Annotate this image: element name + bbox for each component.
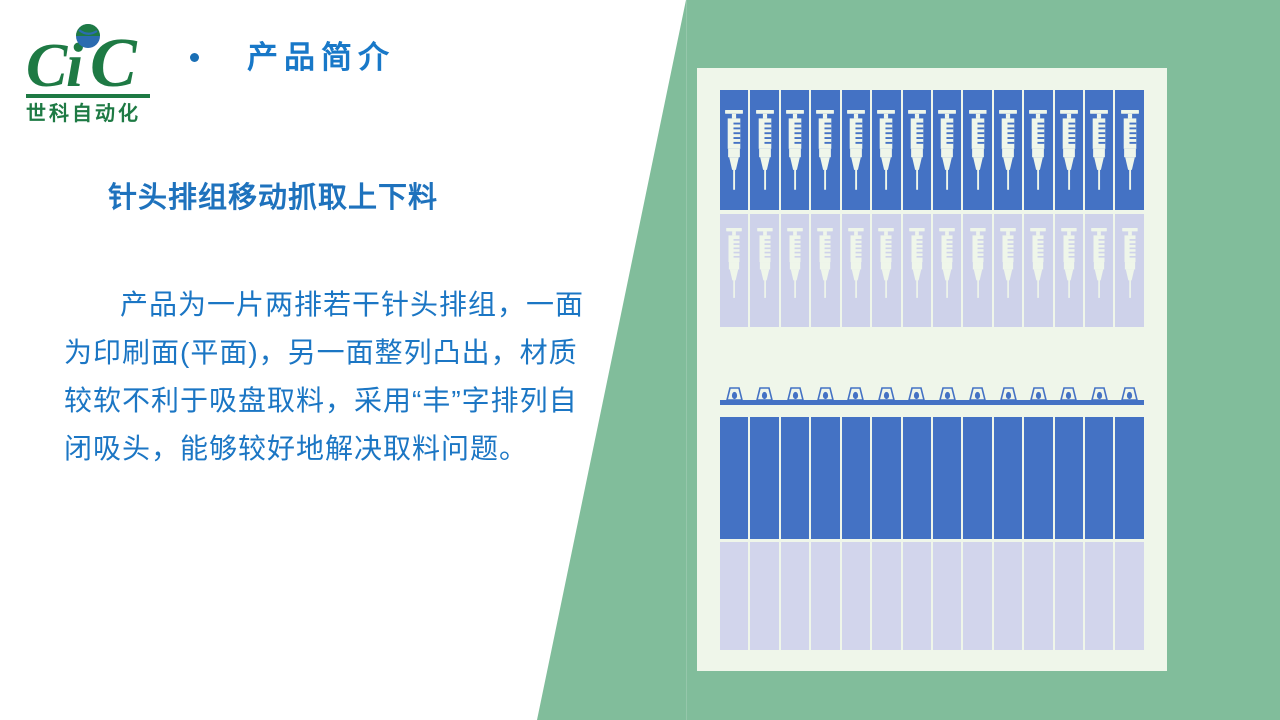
- strip-cell: [811, 90, 839, 210]
- strip-cell: [1024, 417, 1052, 539]
- strip-cell: [994, 90, 1022, 210]
- syringe-icon: [846, 110, 865, 190]
- syringe-icon: [1059, 110, 1078, 190]
- suction-cup-icon: [1000, 387, 1017, 401]
- bullet-dot-icon: [190, 53, 199, 62]
- suction-cup-cell: [1055, 383, 1083, 401]
- strip-cell: [933, 214, 961, 327]
- strip-cell: [781, 417, 809, 539]
- syringe-icon: [787, 228, 804, 298]
- green-seam-line: [686, 0, 687, 720]
- suction-cup-cell: [842, 383, 870, 401]
- strip-cell: [842, 214, 870, 327]
- syringe-icon: [968, 110, 987, 190]
- syringe-icon: [725, 110, 744, 190]
- suction-cup-icon: [1091, 387, 1108, 401]
- strip-cell: [903, 90, 931, 210]
- strip-cell: [1055, 90, 1083, 210]
- suction-cup-cell: [872, 383, 900, 401]
- strip-cell: [1115, 214, 1143, 327]
- strip-cell: [750, 542, 778, 650]
- strip-cell: [1024, 90, 1052, 210]
- suction-cup-icon: [908, 387, 925, 401]
- strip-cell: [963, 417, 991, 539]
- strip-cell: [1024, 214, 1052, 327]
- strip-cell: [933, 542, 961, 650]
- syringe-icon: [755, 110, 774, 190]
- strip-cell: [842, 90, 870, 210]
- syringe-icon: [877, 110, 896, 190]
- body-paragraph: 产品为一片两排若干针头排组，一面为印刷面(平面)，另一面整列凸出，材质较软不利于…: [64, 281, 584, 473]
- syringe-icon: [939, 228, 956, 298]
- strip-cell: [750, 214, 778, 327]
- syringe-icon: [1029, 110, 1048, 190]
- syringe-icon: [726, 228, 743, 298]
- strip-cell: [872, 214, 900, 327]
- strip-cell: [842, 417, 870, 539]
- syringe-icon: [756, 228, 773, 298]
- company-logo: C i C 世科自动化: [22, 16, 174, 124]
- suction-cup-cell: [781, 383, 809, 401]
- syringe-icon: [999, 110, 1018, 190]
- strip-cell: [1085, 90, 1113, 210]
- strip-cell: [720, 542, 748, 650]
- product-illustration: [720, 90, 1144, 650]
- suction-cup-rail: [720, 379, 1144, 405]
- syringe-icon: [907, 110, 926, 190]
- strip-cell: [811, 542, 839, 650]
- suction-cup-icon: [939, 387, 956, 401]
- suction-cup-icon: [878, 387, 895, 401]
- suction-cup-icon: [787, 387, 804, 401]
- strip-cell: [872, 90, 900, 210]
- logo-subtitle: 世科自动化: [26, 101, 141, 124]
- strip-cell: [1085, 542, 1113, 650]
- suction-cup-icon: [847, 387, 864, 401]
- strip-cell: [781, 542, 809, 650]
- suction-cup-icon: [1060, 387, 1077, 401]
- suction-cup-cell: [963, 383, 991, 401]
- suction-cup-icon: [726, 387, 743, 401]
- suction-cup-row: [720, 383, 1144, 401]
- suction-cup-cell: [1085, 383, 1113, 401]
- svg-text:C: C: [26, 32, 68, 100]
- syringe-icon: [1120, 110, 1139, 190]
- suction-cup-cell: [1024, 383, 1052, 401]
- strip-cell: [781, 214, 809, 327]
- syringe-icon: [817, 228, 834, 298]
- syringe-icon: [938, 110, 957, 190]
- strip-cell: [781, 90, 809, 210]
- globe-icon: [76, 24, 100, 48]
- strip-cell: [720, 90, 748, 210]
- strip-cell: [963, 542, 991, 650]
- strip-cell: [720, 417, 748, 539]
- strip-cell: [811, 417, 839, 539]
- suction-cup-icon: [817, 387, 834, 401]
- strip-cell: [750, 417, 778, 539]
- syringe-icon: [1030, 228, 1047, 298]
- syringe-icon: [969, 228, 986, 298]
- syringe-icon: [1091, 228, 1108, 298]
- strip-cell: [1055, 417, 1083, 539]
- syringe-icon: [878, 228, 895, 298]
- strip-cell: [811, 214, 839, 327]
- suction-cup-icon: [1030, 387, 1047, 401]
- strip-cell: [750, 90, 778, 210]
- strip-cell: [1115, 417, 1143, 539]
- section-heading: 针头排组移动抓取上下料: [108, 174, 438, 216]
- suction-cup-cell: [933, 383, 961, 401]
- strip-cell: [933, 90, 961, 210]
- strip-cell: [872, 417, 900, 539]
- strip-cell: [1115, 90, 1143, 210]
- strip-cell: [1085, 214, 1113, 327]
- strip-cell: [872, 542, 900, 650]
- strip-cell: [933, 417, 961, 539]
- strip-cell: [963, 214, 991, 327]
- suction-cup-icon: [969, 387, 986, 401]
- lower-light-strip: [720, 542, 1144, 650]
- suction-cup-icon: [756, 387, 773, 401]
- product-illustration-frame: [697, 68, 1167, 671]
- suction-cup-bar: [720, 400, 1144, 405]
- suction-cup-cell: [750, 383, 778, 401]
- lower-solid-strip: [720, 417, 1144, 539]
- syringe-icon: [1121, 228, 1138, 298]
- suction-cup-cell: [1115, 383, 1143, 401]
- syringe-icon: [908, 228, 925, 298]
- syringe-icon: [1061, 228, 1078, 298]
- page-title: 产品简介: [247, 42, 395, 73]
- strip-cell: [903, 214, 931, 327]
- suction-cup-cell: [720, 383, 748, 401]
- header-row: 产品简介: [190, 42, 395, 73]
- suction-cup-icon: [1121, 387, 1138, 401]
- strip-cell: [1055, 542, 1083, 650]
- syringe-icon: [1000, 228, 1017, 298]
- strip-cell: [903, 417, 931, 539]
- strip-cell: [1085, 417, 1113, 539]
- strip-cell: [1055, 214, 1083, 327]
- syringe-icon: [848, 228, 865, 298]
- strip-cell: [994, 542, 1022, 650]
- strip-cell: [994, 417, 1022, 539]
- strip-cell: [720, 214, 748, 327]
- syringe-icon: [816, 110, 835, 190]
- strip-cell: [842, 542, 870, 650]
- strip-cell: [1115, 542, 1143, 650]
- suction-cup-cell: [811, 383, 839, 401]
- mid-syringe-strip: [720, 214, 1144, 327]
- syringe-icon: [1090, 110, 1109, 190]
- upper-syringe-strip: [720, 90, 1144, 210]
- slide-canvas: C i C 世科自动化 产品简介 针头排组移动抓取上下料 产品为一片两排若干针头…: [0, 0, 1280, 720]
- strip-cell: [963, 90, 991, 210]
- strip-cell: [903, 542, 931, 650]
- strip-cell: [1024, 542, 1052, 650]
- suction-cup-cell: [994, 383, 1022, 401]
- syringe-icon: [786, 110, 805, 190]
- logo-rule: [26, 94, 150, 98]
- strip-cell: [994, 214, 1022, 327]
- suction-cup-cell: [903, 383, 931, 401]
